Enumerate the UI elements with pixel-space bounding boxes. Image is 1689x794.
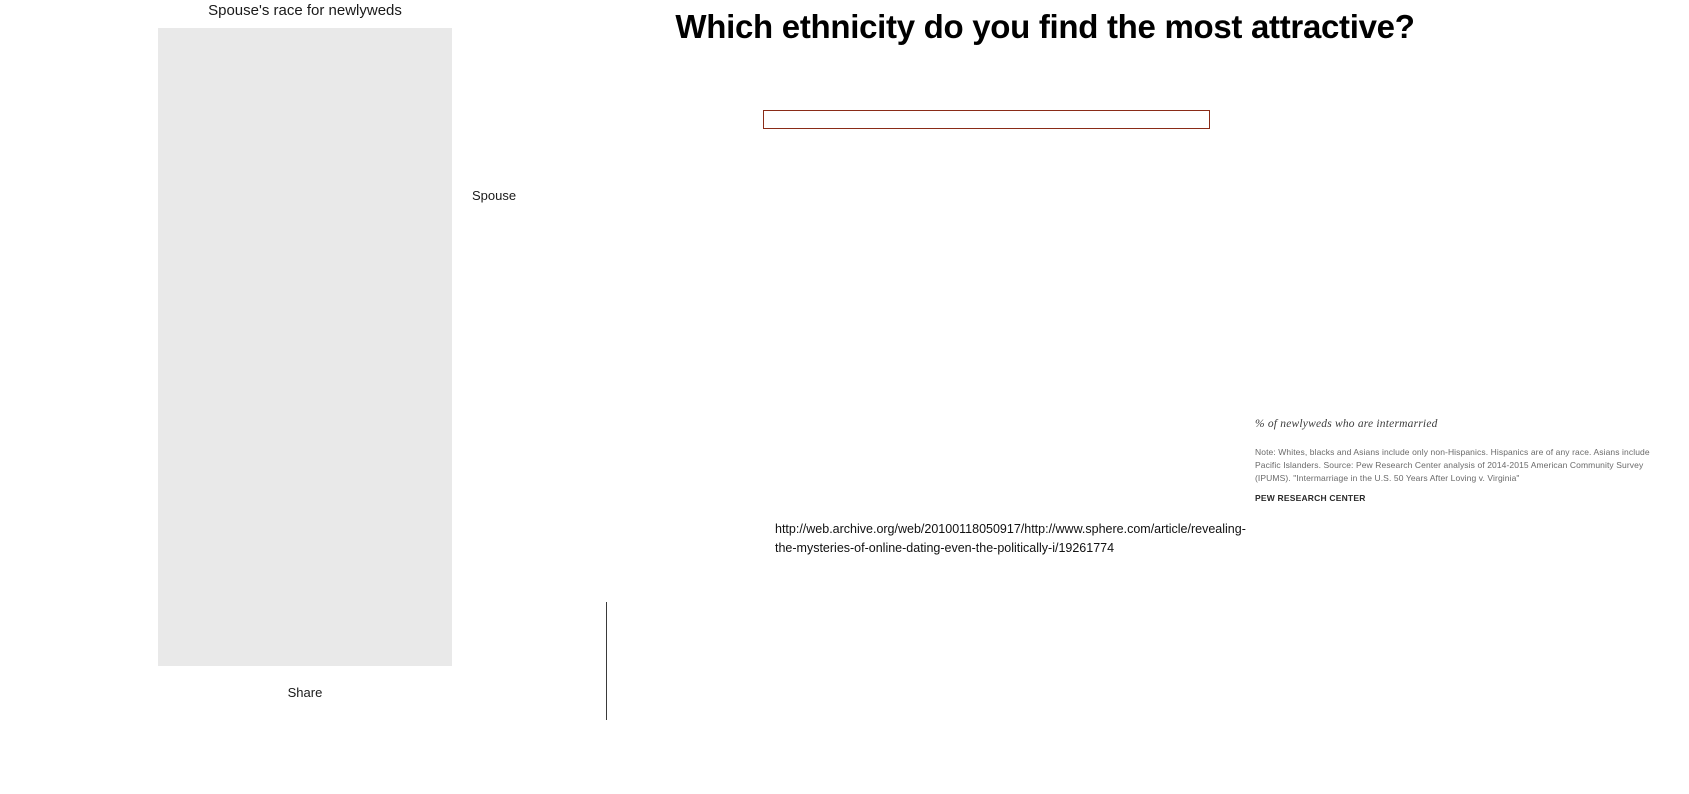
spouse-race-chart: Spouse's race for newlyweds Share Spouse bbox=[0, 0, 605, 700]
pew-intermarriage-chart: % of newlyweds who are intermarried Note… bbox=[1255, 418, 1675, 678]
ethnicity-x-axis bbox=[895, 443, 1200, 461]
pew-note: Note: Whites, blacks and Asians include … bbox=[1255, 446, 1675, 486]
left-chart-title: Spouse's race for newlyweds bbox=[155, 2, 455, 19]
legend-title: Spouse bbox=[472, 188, 516, 203]
white-females-highlight-box bbox=[763, 110, 1210, 129]
pew-brand: PEW RESEARCH CENTER bbox=[1255, 493, 1675, 503]
source-url[interactable]: http://web.archive.org/web/2010011805091… bbox=[775, 520, 1225, 558]
spouse-legend: Spouse bbox=[472, 188, 516, 209]
left-x-axis-label: Share bbox=[158, 685, 452, 700]
left-bars-container bbox=[158, 28, 452, 666]
ethnicity-chart-title: Which ethnicity do you find the most att… bbox=[570, 8, 1520, 46]
pew-chart-title: % of newlyweds who are intermarried bbox=[1255, 418, 1675, 430]
left-plot-area bbox=[158, 28, 452, 666]
attractiveness-heatmap bbox=[606, 580, 1016, 725]
heatmap-vertical-rule bbox=[606, 602, 607, 720]
ethnicity-chart bbox=[755, 88, 1225, 438]
